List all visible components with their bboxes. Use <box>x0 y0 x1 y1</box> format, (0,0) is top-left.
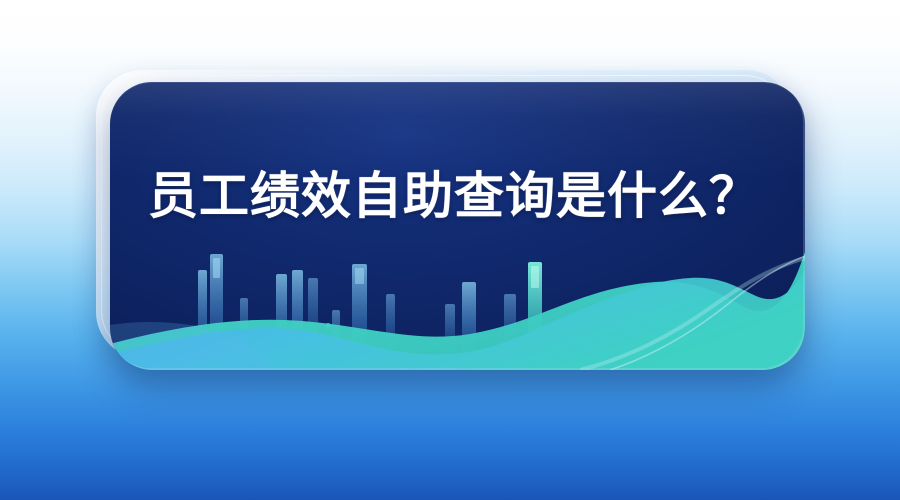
poster-canvas: 员工绩效自助查询是什么？ <box>0 0 900 500</box>
hero-card: 员工绩效自助查询是什么？ <box>110 82 805 370</box>
card-decorative-chart <box>110 82 805 370</box>
page-title: 员工绩效自助查询是什么？ <box>148 168 768 224</box>
